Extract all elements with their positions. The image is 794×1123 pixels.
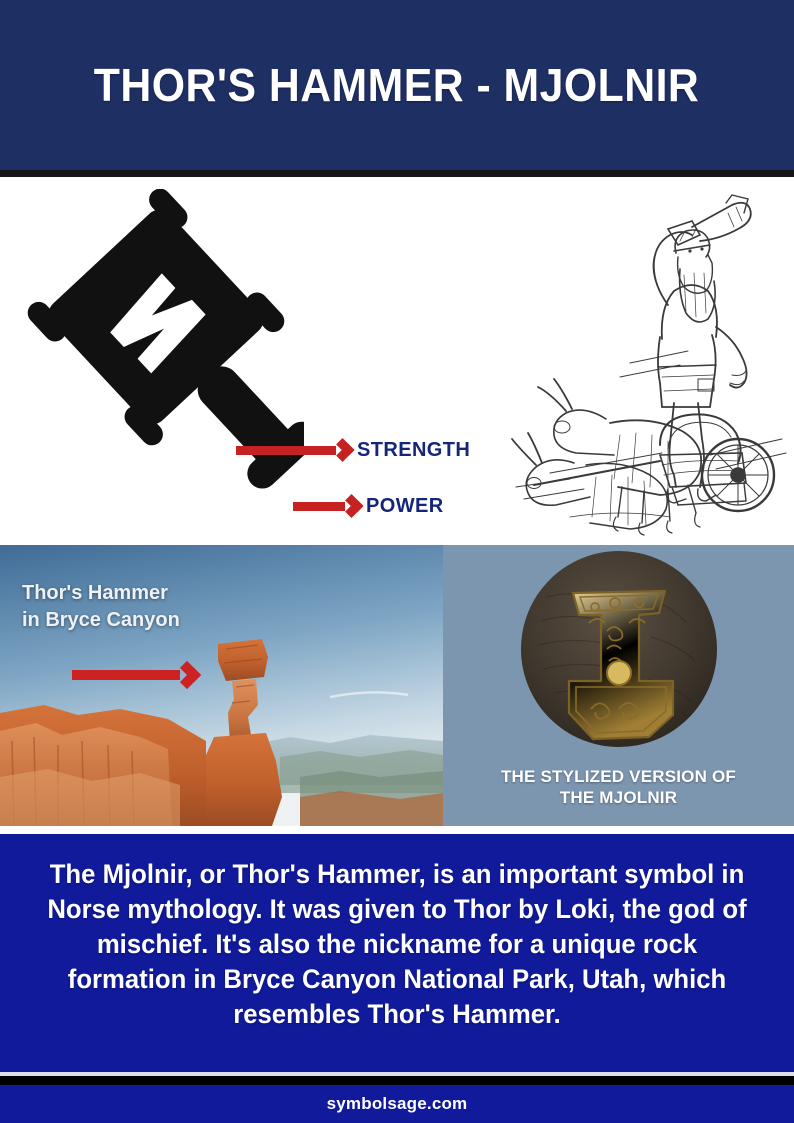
- bryce-canyon-photo: Thor's Hammer in Bryce Canyon: [0, 545, 443, 826]
- canyon-caption: Thor's Hammer in Bryce Canyon: [22, 580, 180, 634]
- arrow-icon-canyon-pointer: [72, 670, 180, 680]
- attribute-label-power: POWER: [366, 495, 444, 518]
- arrow-icon-strength: [236, 446, 336, 455]
- attribute-label-strength: STRENGTH: [357, 439, 470, 462]
- footer-top-spacer: [0, 1055, 794, 1072]
- pendant-caption: THE STYLIZED VERSION OF THE MJOLNIR: [443, 766, 794, 809]
- footer-banner: symbolsage.com: [0, 1085, 794, 1123]
- description-block: The Mjolnir, or Thor's Hammer, is an imp…: [0, 834, 794, 1055]
- attribute-row-strength: STRENGTH: [236, 433, 470, 467]
- footer-site-label[interactable]: symbolsage.com: [327, 1094, 468, 1114]
- canyon-caption-line1: Thor's Hammer: [22, 580, 180, 607]
- infographic-poster: THOR'S HAMMER - MJOLNIR STRENGTH: [0, 0, 794, 1123]
- description-paragraph: The Mjolnir, or Thor's Hammer, is an imp…: [43, 857, 751, 1032]
- arrow-icon-power: [293, 502, 345, 511]
- mjolnir-pendant-photo: [443, 545, 794, 775]
- attribute-row-power: POWER: [293, 489, 444, 523]
- canyon-caption-line2: in Bryce Canyon: [22, 607, 180, 634]
- page-title: THOR'S HAMMER - MJOLNIR: [94, 58, 700, 112]
- pendant-caption-line2: THE MJOLNIR: [443, 787, 794, 808]
- symbol-section: STRENGTH POWER FERTILITY FEARLESSNESS: [0, 177, 794, 545]
- pendant-caption-line1: THE STYLIZED VERSION OF: [443, 766, 794, 787]
- mjolnir-pendant-panel: THE STYLIZED VERSION OF THE MJOLNIR: [443, 545, 794, 826]
- footer-divider-dark: [0, 1076, 794, 1085]
- thor-chariot-engraving: [510, 187, 794, 545]
- header-banner: THOR'S HAMMER - MJOLNIR: [0, 0, 794, 170]
- header-divider-rule: [0, 170, 794, 177]
- photo-section: Thor's Hammer in Bryce Canyon: [0, 545, 794, 826]
